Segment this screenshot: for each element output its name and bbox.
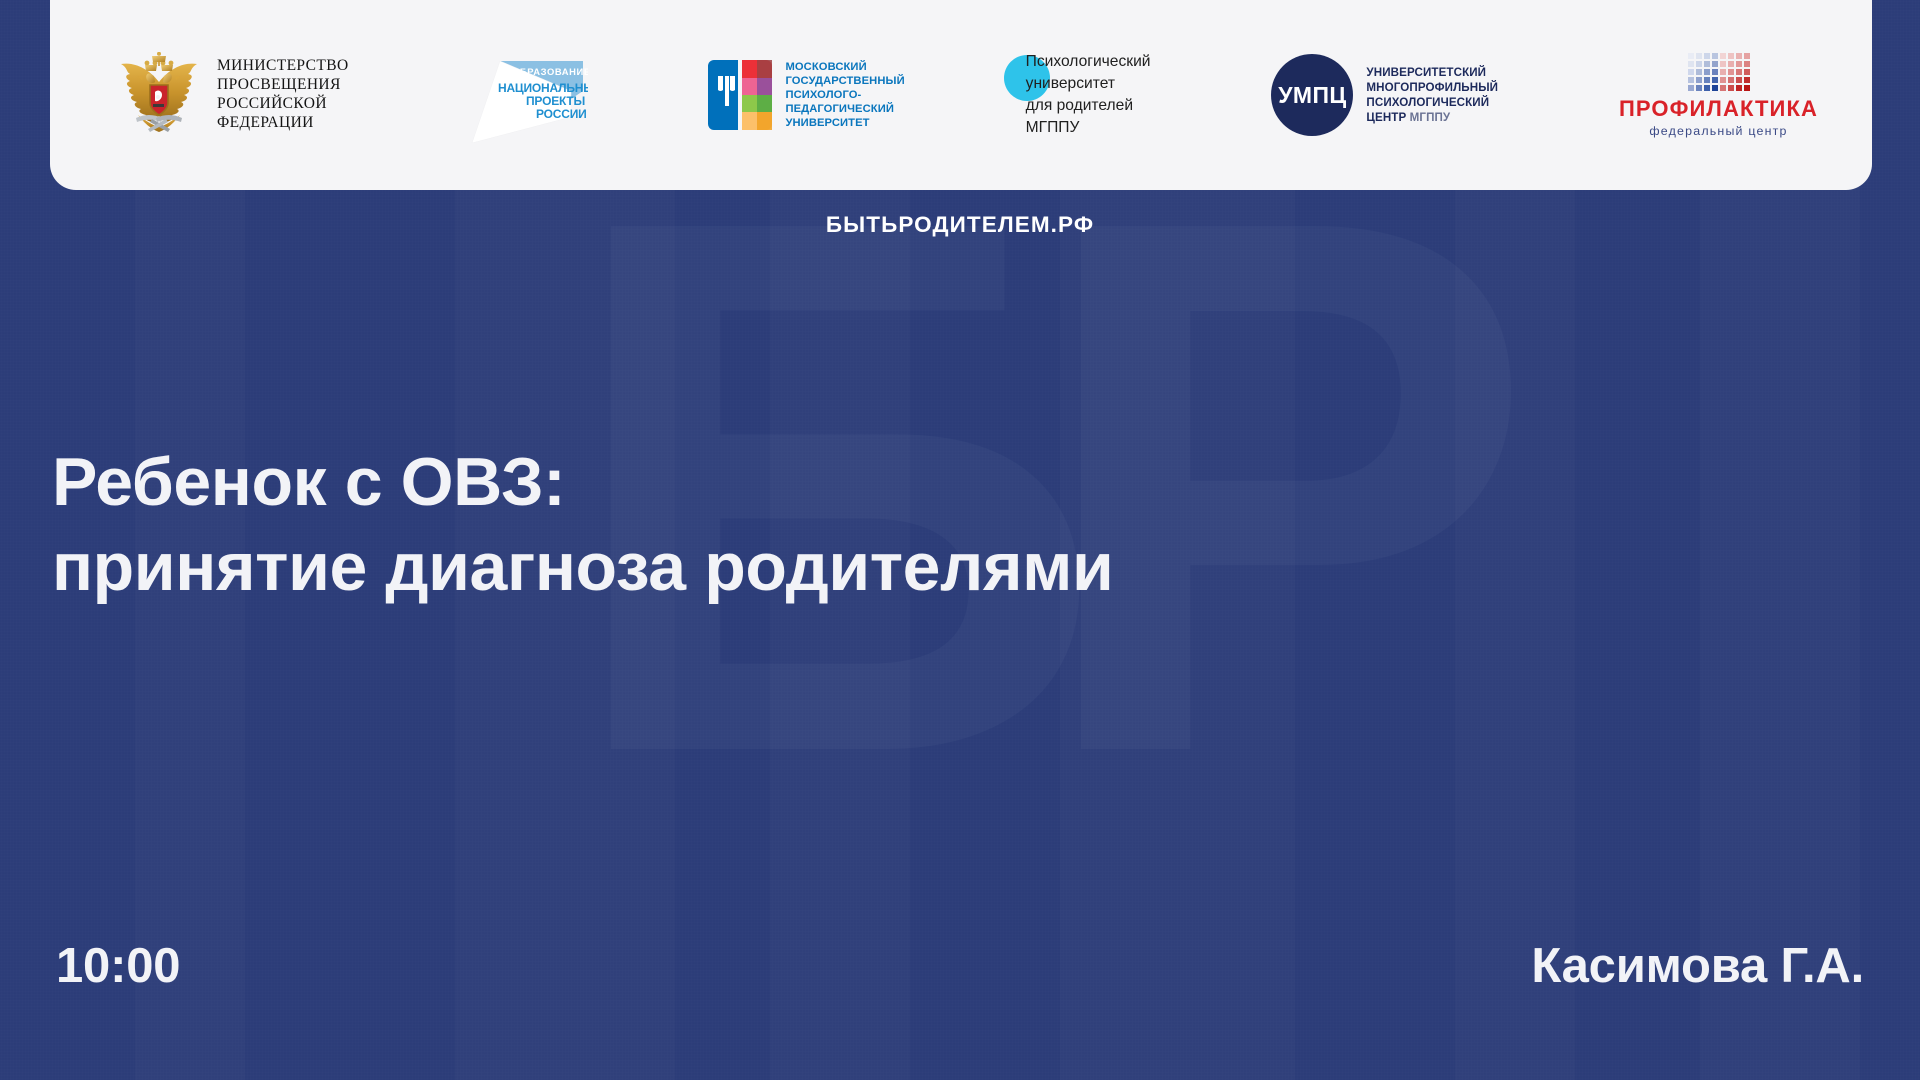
title-line-2: принятие диагноза родителями bbox=[52, 525, 1113, 610]
svg-text:РОССИИ: РОССИИ bbox=[536, 107, 587, 121]
logo-umpc-line: МНОГОПРОФИЛЬНЫЙ bbox=[1366, 80, 1498, 95]
logo-national-projects: ОБРАЗОВАНИЕ НАЦИОНАЛЬНЫЕ ПРОЕКТЫ РОССИИ bbox=[470, 47, 588, 143]
logo-profilaktika-title: ПРОФИЛАКТИКА bbox=[1619, 98, 1818, 120]
logo-mgppu-line: ПЕДАГОГИЧЕСКИЙ bbox=[785, 102, 904, 116]
pixel-flag-grid-icon bbox=[1688, 53, 1750, 91]
logo-psy-line: для родителей bbox=[1026, 95, 1151, 117]
webinar-announcement-slide: Б Р bbox=[0, 0, 1920, 1080]
logo-umpc-org-abbr: МГППУ bbox=[1410, 111, 1451, 124]
page-title: Ребенок с ОВЗ: принятие диагноза родител… bbox=[52, 440, 1113, 610]
mgppu-book-psi-mark-icon bbox=[708, 60, 772, 130]
logo-profilaktika-subtitle: федеральный центр bbox=[1619, 124, 1818, 138]
speaker-name: Касимова Г.А. bbox=[1531, 938, 1864, 994]
logo-psy-university-for-parents: Психологический университет для родителе… bbox=[1026, 51, 1151, 140]
event-time: 10:00 bbox=[56, 938, 180, 994]
logo-psy-line: МГППУ bbox=[1026, 117, 1151, 139]
logo-mgppu-line: УНИВЕРСИТЕТ bbox=[785, 116, 904, 130]
logo-umpc-line-last: ЦЕНТР МГППУ bbox=[1366, 110, 1498, 125]
national-projects-banner-icon: ОБРАЗОВАНИЕ НАЦИОНАЛЬНЫЕ ПРОЕКТЫ РОССИИ bbox=[470, 47, 588, 143]
logo-mgppu-line: ГОСУДАРСТВЕННЫЙ bbox=[785, 74, 904, 88]
logo-ministry-line: РОССИЙСКОЙ bbox=[217, 95, 349, 114]
logo-ministry-line: МИНИСТЕРСТВО bbox=[217, 57, 349, 76]
logo-ministry-of-education: МИНИСТЕРСТВО ПРОСВЕЩЕНИЯ РОССИЙСКОЙ ФЕДЕ… bbox=[114, 52, 349, 138]
site-url: БЫТЬРОДИТЕЛЕМ.РФ bbox=[0, 212, 1920, 238]
logo-umpc-line: УНИВЕРСИТЕТСКИЙ bbox=[1366, 65, 1498, 80]
logo-ministry-line: ПРОСВЕЩЕНИЯ bbox=[217, 76, 349, 95]
logo-mgppu: МОСКОВСКИЙ ГОСУДАРСТВЕННЫЙ ПСИХОЛОГО- ПЕ… bbox=[708, 60, 904, 131]
logo-mgppu-line: ПСИХОЛОГО- bbox=[785, 88, 904, 102]
slide-footer: 10:00 Касимова Г.А. bbox=[0, 938, 1920, 994]
logo-psy-line: Психологический bbox=[1026, 51, 1151, 73]
partner-logos-header: МИНИСТЕРСТВО ПРОСВЕЩЕНИЯ РОССИЙСКОЙ ФЕДЕ… bbox=[50, 0, 1872, 190]
umpc-circle-badge-icon: УМПЦ bbox=[1271, 54, 1353, 136]
logo-mgppu-line: МОСКОВСКИЙ bbox=[785, 60, 904, 74]
title-line-1: Ребенок с ОВЗ: bbox=[52, 440, 1113, 525]
logo-umpc-text: УНИВЕРСИТЕТСКИЙ МНОГОПРОФИЛЬНЫЙ ПСИХОЛОГ… bbox=[1366, 65, 1498, 125]
logo-umpc-line: ПСИХОЛОГИЧЕСКИЙ bbox=[1366, 95, 1498, 110]
logo-ministry-line: ФЕДЕРАЦИИ bbox=[217, 114, 349, 133]
logo-umpc-center-word: ЦЕНТР bbox=[1366, 111, 1406, 124]
logo-profilaktika: ПРОФИЛАКТИКА федеральный центр bbox=[1619, 53, 1818, 138]
svg-text:ОБРАЗОВАНИЕ: ОБРАЗОВАНИЕ bbox=[512, 66, 588, 77]
logo-umpc: УМПЦ УНИВЕРСИТЕТСКИЙ МНОГОПРОФИЛЬНЫЙ ПСИ… bbox=[1271, 54, 1498, 136]
svg-text:НАЦИОНАЛЬНЫЕ: НАЦИОНАЛЬНЫЕ bbox=[498, 81, 588, 95]
russian-coat-of-arms-eagle-icon bbox=[114, 52, 204, 138]
logo-mgppu-text: МОСКОВСКИЙ ГОСУДАРСТВЕННЫЙ ПСИХОЛОГО- ПЕ… bbox=[785, 60, 904, 131]
logo-ministry-text: МИНИСТЕРСТВО ПРОСВЕЩЕНИЯ РОССИЙСКОЙ ФЕДЕ… bbox=[217, 57, 349, 133]
svg-text:ПРОЕКТЫ: ПРОЕКТЫ bbox=[526, 94, 585, 108]
logo-psy-university-text: Психологический университет для родителе… bbox=[1026, 51, 1151, 140]
logo-psy-line: университет bbox=[1026, 73, 1151, 95]
